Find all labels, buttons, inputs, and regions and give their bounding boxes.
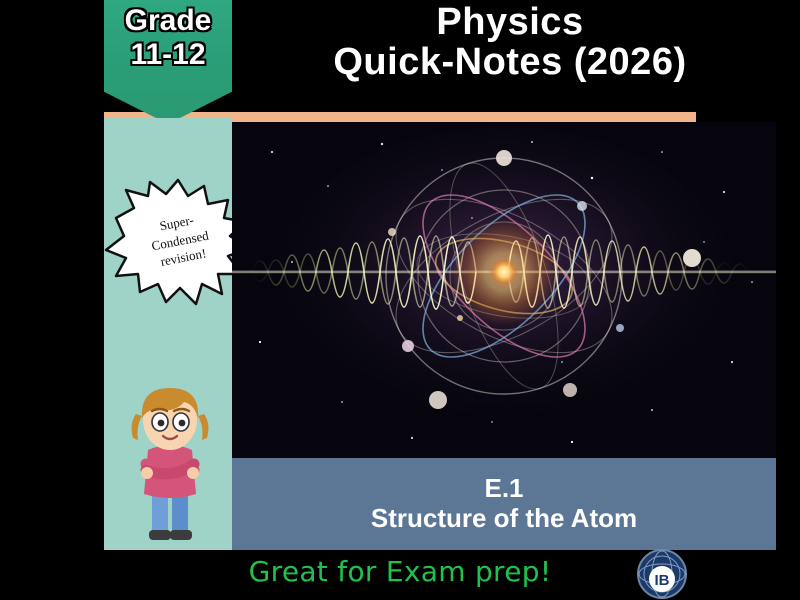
- topic-code: E.1: [484, 474, 523, 504]
- topic-title: Structure of the Atom: [371, 504, 637, 534]
- grade-label-line-1: Grade: [104, 4, 232, 38]
- grade-ribbon-text: Grade 11-12: [104, 4, 232, 71]
- ib-badge: IB: [636, 548, 688, 600]
- grade-label-line-2: 11-12: [104, 38, 232, 72]
- title-line-1: Physics: [240, 2, 780, 42]
- atom-artwork: [232, 122, 776, 458]
- ib-badge-icon: IB: [636, 548, 688, 600]
- cover-page: Physics Quick-Notes (2026) Grade 11-12 S…: [0, 0, 800, 600]
- page-title: Physics Quick-Notes (2026): [240, 2, 780, 83]
- student-icon: [122, 378, 218, 546]
- topic-banner: E.1 Structure of the Atom: [232, 458, 776, 550]
- starfield-icon: [232, 122, 776, 458]
- title-line-2: Quick-Notes (2026): [240, 42, 780, 82]
- student-illustration: [122, 378, 218, 546]
- ib-badge-text: IB: [655, 572, 670, 589]
